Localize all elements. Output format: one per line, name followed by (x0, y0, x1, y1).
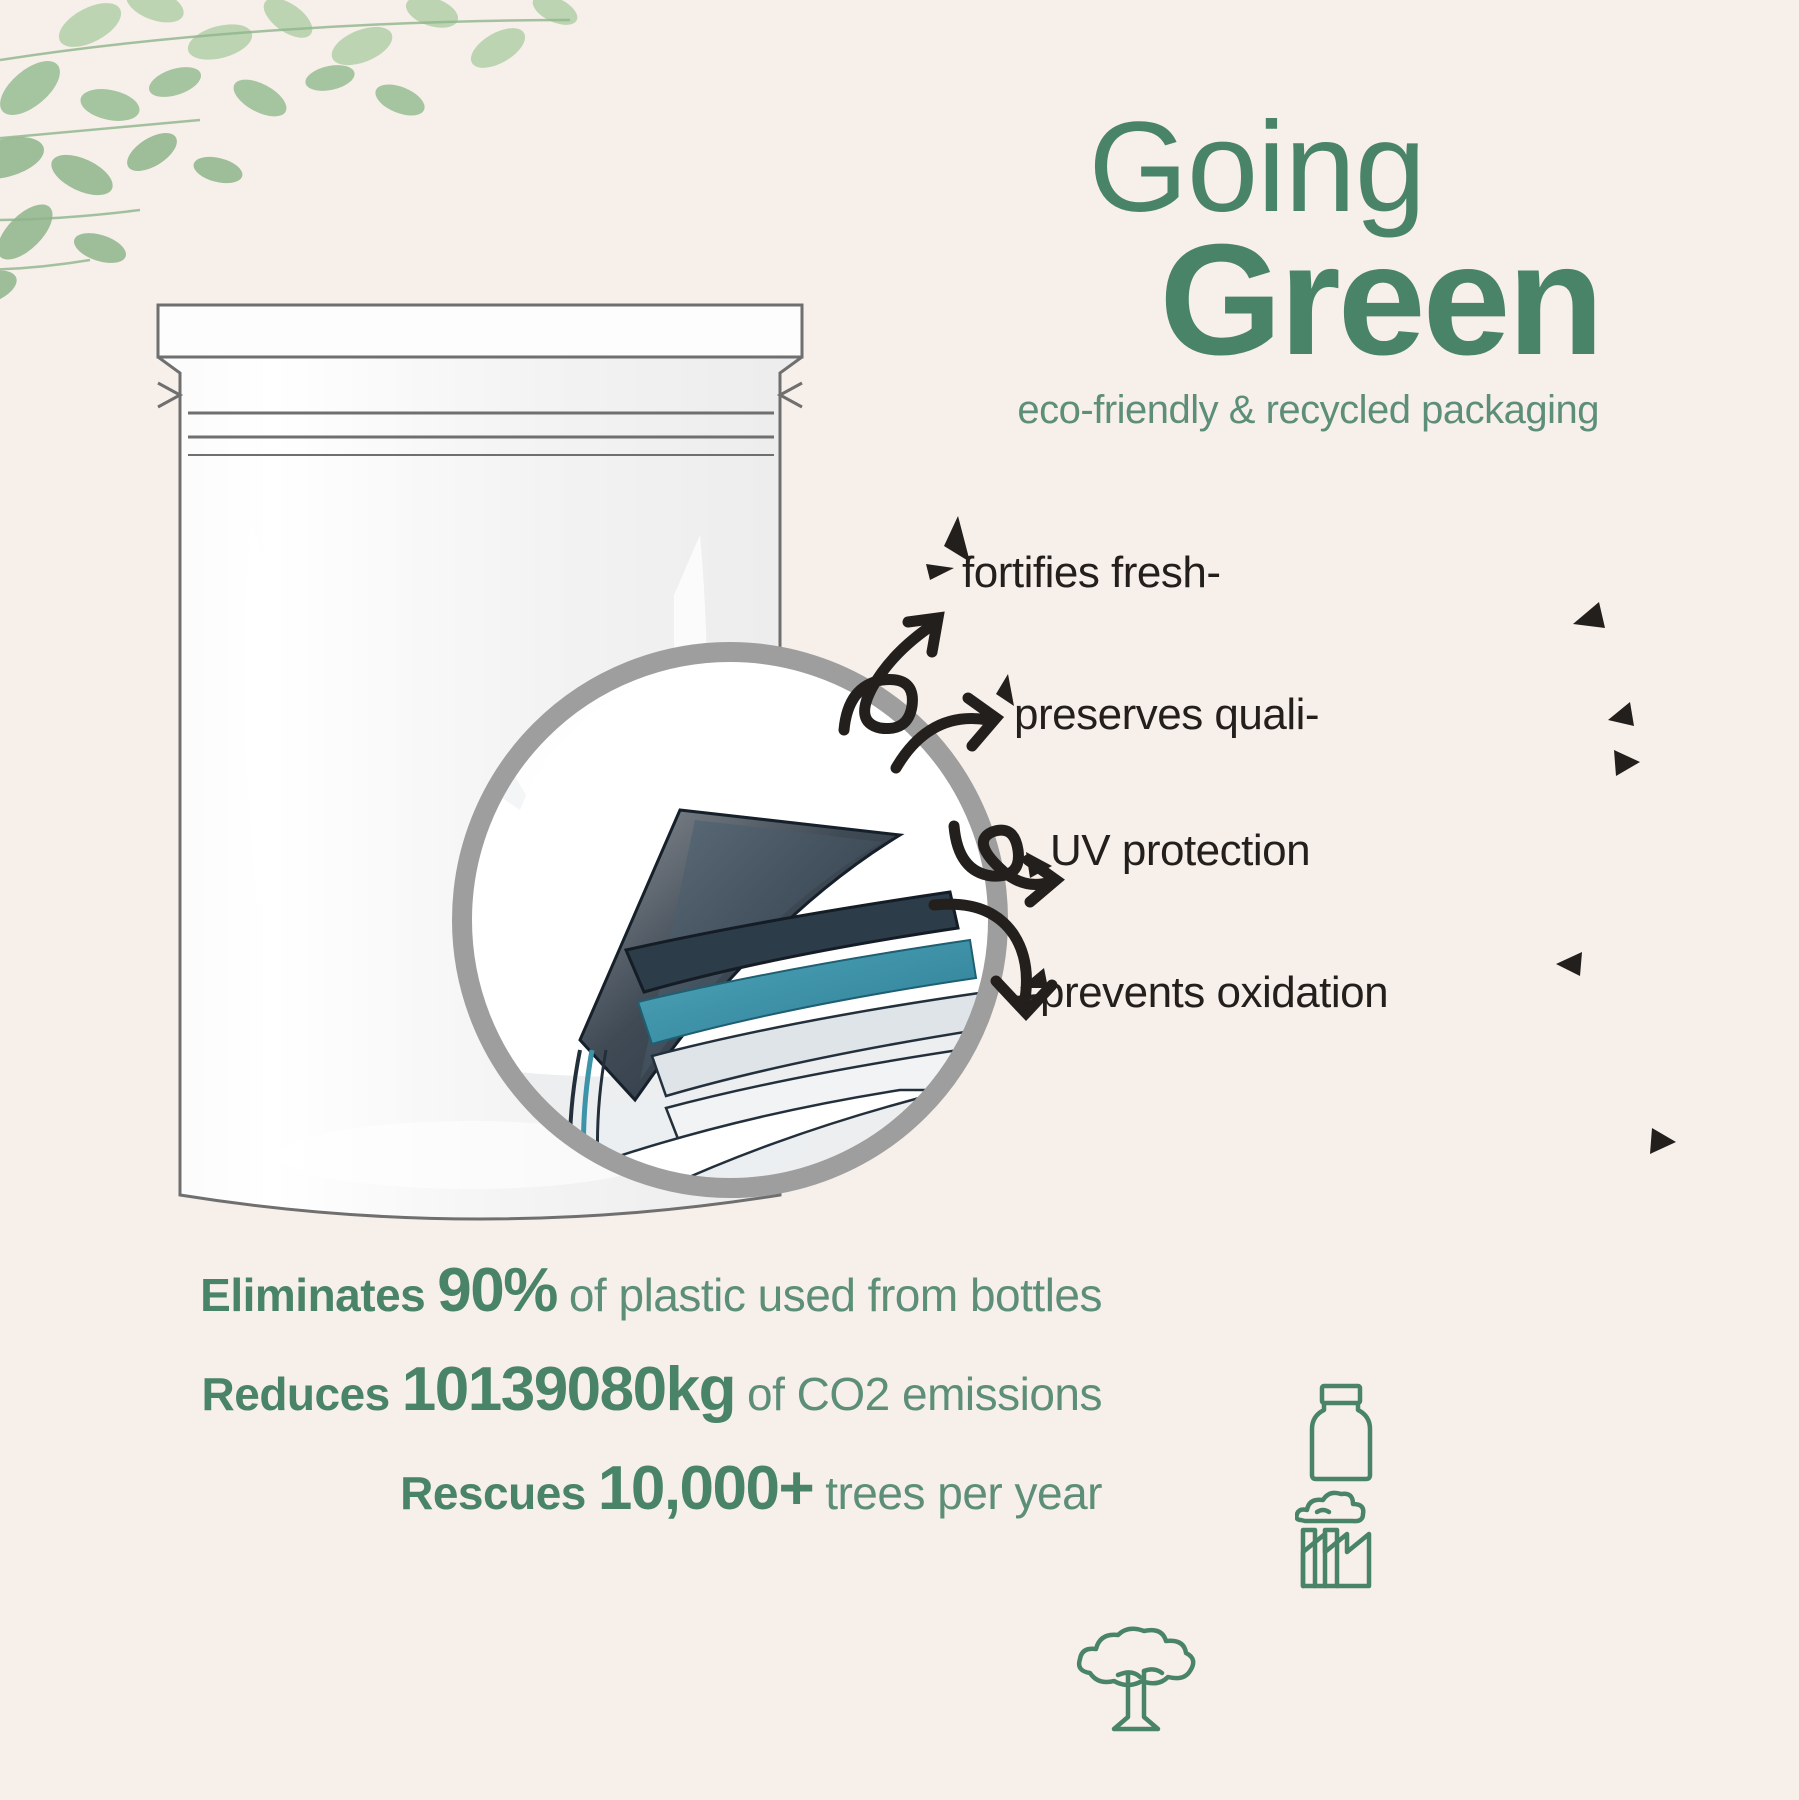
bottle-icon (1308, 1383, 1374, 1483)
stat-value-2: 10,000+ (598, 1453, 813, 1524)
infographic-canvas: Going Green eco-friendly & recycled pack… (0, 0, 1799, 1800)
stats-block: Eliminates 90% of plastic used from bott… (0, 1255, 1180, 1524)
sparkle-icon-right-1 (1600, 698, 1660, 788)
stat-suffix-0: of plastic used from bottles (569, 1268, 1102, 1322)
stat-suffix-2: trees per year (825, 1466, 1102, 1520)
feature-label-2: UV protection (1050, 826, 1310, 876)
sparkle-icon-right-0 (1555, 598, 1625, 668)
heading-block: Going Green eco-friendly & recycled pack… (905, 108, 1605, 433)
sparkle-icon-right-3 (1638, 1122, 1688, 1182)
page-subtitle: eco-friendly & recycled packaging (905, 388, 1605, 433)
stat-row: Rescues 10,000+ trees per year (0, 1453, 1180, 1524)
page-title-line2: Green (905, 228, 1605, 373)
feature-label-0: fortifies fresh- (962, 548, 1221, 598)
stat-suffix-1: of CO2 emissions (747, 1367, 1102, 1421)
feature-label-1: preserves quali- (1014, 690, 1319, 740)
feature-label-3: prevents oxidation (1040, 968, 1388, 1018)
stat-prefix-0: Eliminates (200, 1268, 425, 1322)
stat-row: Reduces 10139080kg of CO2 emissions (0, 1354, 1180, 1425)
stat-row: Eliminates 90% of plastic used from bott… (0, 1255, 1180, 1326)
sparkle-icon-right-2 (1548, 946, 1598, 1006)
factory-icon (1295, 1490, 1387, 1590)
stat-value-0: 90% (437, 1255, 557, 1326)
tree-icon (1070, 1625, 1202, 1745)
leaf-decoration (0, 0, 590, 300)
stat-value-1: 10139080kg (402, 1354, 735, 1425)
stat-prefix-2: Rescues (400, 1466, 586, 1520)
page-title-line1: Going (905, 108, 1605, 228)
stat-prefix-1: Reduces (202, 1367, 390, 1421)
